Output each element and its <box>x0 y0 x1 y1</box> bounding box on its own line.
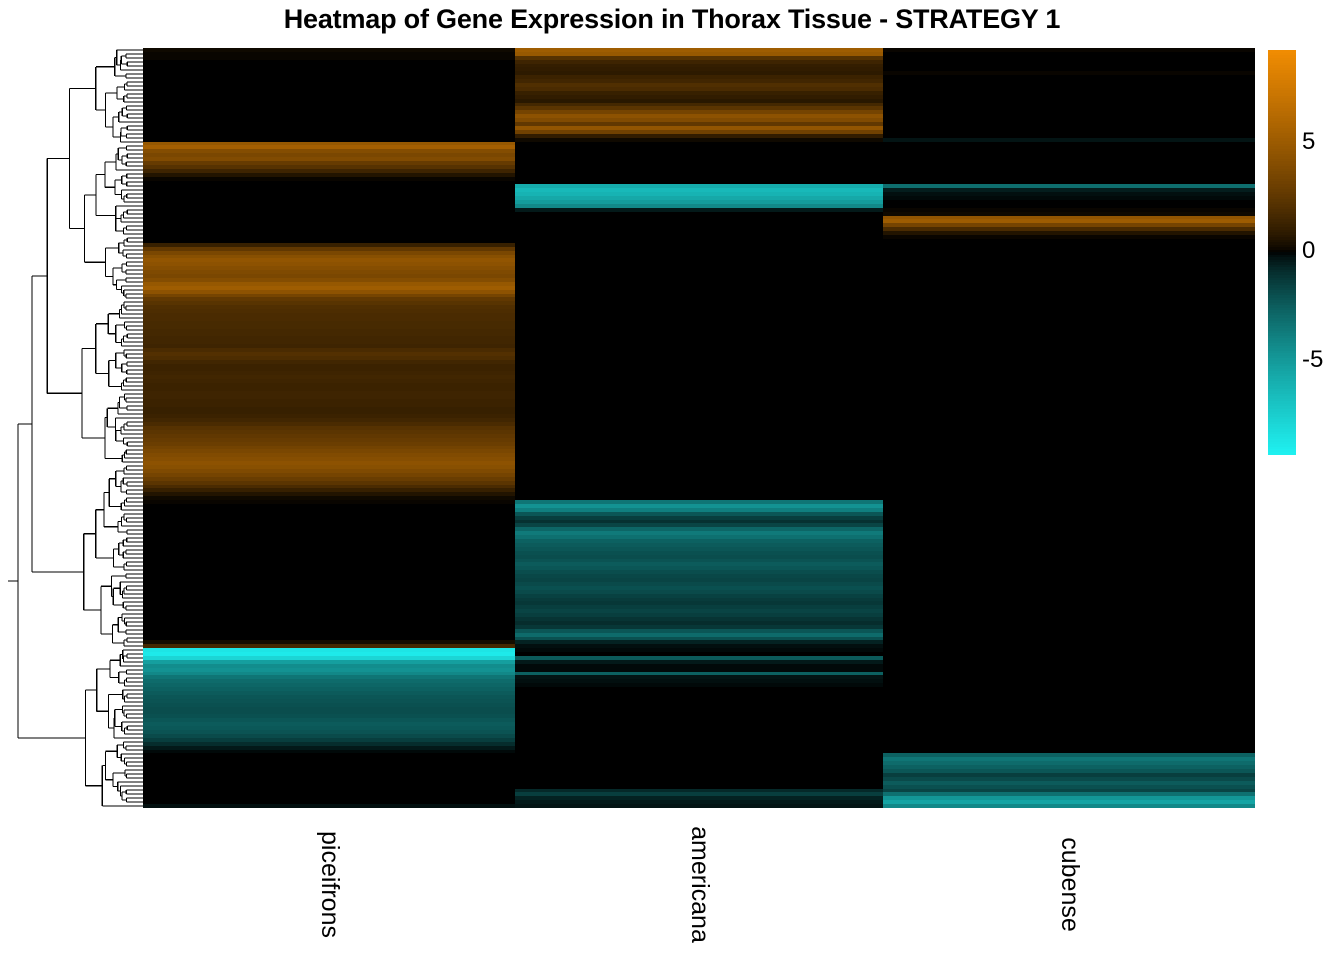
dendrogram-svg <box>8 48 144 808</box>
x-tick-cubense: cubense <box>1056 814 1082 954</box>
heatmap-plot[interactable] <box>143 48 1255 808</box>
colorbar-tick-label: 0 <box>1302 237 1315 265</box>
heatmap-column-piceifrons[interactable] <box>143 48 515 808</box>
x-axis-tick-labels: piceifronsamericanacubense <box>143 808 1255 960</box>
colorbar-tick-label: 5 <box>1302 128 1315 156</box>
x-tick-americana: americana <box>686 814 712 954</box>
colorbar-gradient[interactable] <box>1268 50 1296 452</box>
heatmap-column-americana[interactable] <box>515 48 883 808</box>
heatmap-column-cubense[interactable] <box>883 48 1255 808</box>
row-dendrogram <box>8 48 144 808</box>
x-tick-label: piceifrons <box>315 831 344 938</box>
page-title: Heatmap of Gene Expression in Thorax Tis… <box>0 4 1344 35</box>
x-tick-label: cubense <box>1055 837 1084 932</box>
heatmap-figure: Heatmap of Gene Expression in Thorax Tis… <box>0 0 1344 960</box>
x-tick-label: americana <box>685 826 714 943</box>
colorbar-segment <box>1268 452 1296 455</box>
x-tick-piceifrons: piceifrons <box>316 814 342 954</box>
colorbar-tick-label: -5 <box>1302 346 1323 374</box>
colorbar-legend: 50-5 <box>1268 50 1344 460</box>
